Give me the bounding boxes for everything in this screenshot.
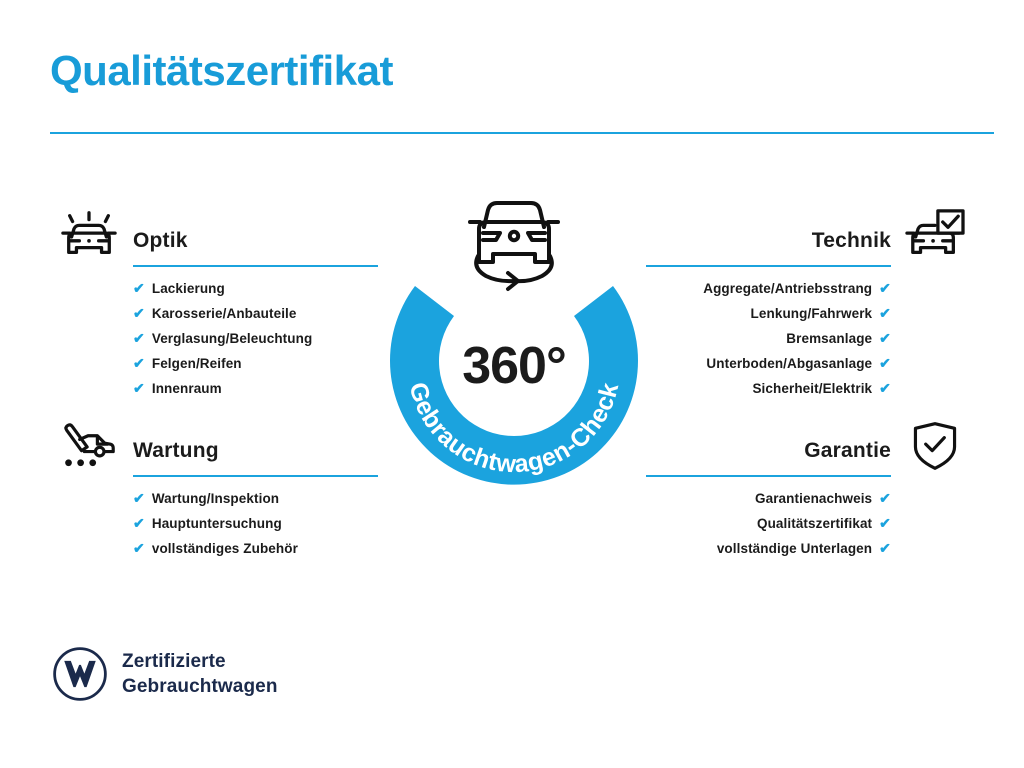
- section-garantie-list: Garantienachweis✔ Qualitätszertifikat✔ v…: [644, 486, 974, 561]
- check-icon: ✔: [879, 486, 891, 510]
- section-technik-divider: [646, 265, 891, 267]
- check-icon: ✔: [879, 301, 891, 325]
- check-icon: ✔: [133, 536, 145, 560]
- section-optik-list: ✔Lackierung ✔Karosserie/Anbauteile ✔Verg…: [50, 276, 380, 401]
- section-optik-divider: [133, 265, 378, 267]
- list-item: Sicherheit/Elektrik✔: [644, 376, 891, 401]
- page-title: Qualitätszertifikat: [50, 48, 393, 94]
- check-icon: ✔: [879, 326, 891, 350]
- check-icon: ✔: [133, 511, 145, 535]
- section-wartung-title: Wartung: [133, 439, 219, 463]
- list-item: Lenkung/Fahrwerk✔: [644, 301, 891, 326]
- check-icon: ✔: [879, 536, 891, 560]
- list-item-label: Qualitätszertifikat: [757, 512, 872, 536]
- section-technik: Technik Aggregate/Antriebsstrang✔ Lenkun…: [644, 205, 974, 401]
- list-item: ✔Verglasung/Beleuchtung: [133, 326, 380, 351]
- check-icon: ✔: [879, 276, 891, 300]
- gebrauchtwagen-check-badge: Gebrauchtwagen-Check 360°: [374, 190, 654, 490]
- vw-brand-block: Zertifizierte Gebrauchtwagen: [52, 646, 278, 702]
- list-item-label: vollständiges Zubehör: [152, 537, 298, 561]
- badge-center-label: 360°: [374, 336, 654, 396]
- check-icon: ✔: [133, 276, 145, 300]
- list-item-label: Felgen/Reifen: [152, 352, 242, 376]
- car-service-dipstick-icon: [50, 415, 128, 477]
- section-optik-title: Optik: [133, 229, 188, 253]
- list-item: ✔Felgen/Reifen: [133, 351, 380, 376]
- check-icon: ✔: [879, 351, 891, 375]
- section-technik-title: Technik: [812, 229, 891, 253]
- list-item: ✔Lackierung: [133, 276, 380, 301]
- section-wartung: Wartung ✔Wartung/Inspektion ✔Hauptunters…: [50, 415, 380, 561]
- list-item: ✔Innenraum: [133, 376, 380, 401]
- list-item-label: Hauptuntersuchung: [152, 512, 282, 536]
- list-item-label: Unterboden/Abgasanlage: [706, 352, 872, 376]
- brand-line-1: Zertifizierte: [122, 649, 278, 674]
- brand-line-2: Gebrauchtwagen: [122, 674, 278, 699]
- check-icon: ✔: [879, 376, 891, 400]
- section-garantie-header: Garantie: [644, 415, 974, 477]
- section-wartung-list: ✔Wartung/Inspektion ✔Hauptuntersuchung ✔…: [50, 486, 380, 561]
- list-item: vollständige Unterlagen✔: [644, 536, 891, 561]
- check-icon: ✔: [879, 511, 891, 535]
- list-item: ✔Karosserie/Anbauteile: [133, 301, 380, 326]
- brand-text: Zertifizierte Gebrauchtwagen: [122, 649, 278, 699]
- check-icon: ✔: [133, 351, 145, 375]
- list-item-label: Karosserie/Anbauteile: [152, 302, 297, 326]
- car-front-rotate-icon: [456, 190, 572, 296]
- check-icon: ✔: [133, 486, 145, 510]
- list-item-label: Aggregate/Antriebsstrang: [703, 277, 872, 301]
- list-item: Unterboden/Abgasanlage✔: [644, 351, 891, 376]
- list-item: Bremsanlage✔: [644, 326, 891, 351]
- list-item: ✔Hauptuntersuchung: [133, 511, 380, 536]
- section-optik: Optik ✔Lackierung ✔Karosserie/Anbauteile…: [50, 205, 380, 401]
- section-wartung-divider: [133, 475, 378, 477]
- list-item: ✔Wartung/Inspektion: [133, 486, 380, 511]
- list-item: Garantienachweis✔: [644, 486, 891, 511]
- car-front-checkbox-icon: [896, 205, 974, 267]
- list-item-label: Sicherheit/Elektrik: [752, 377, 872, 401]
- vw-logo-icon: [52, 646, 108, 702]
- list-item-label: Verglasung/Beleuchtung: [152, 327, 312, 351]
- shield-check-icon: [896, 415, 974, 477]
- list-item-label: Bremsanlage: [786, 327, 872, 351]
- list-item-label: Garantienachweis: [755, 487, 872, 511]
- check-icon: ✔: [133, 301, 145, 325]
- list-item-label: Wartung/Inspektion: [152, 487, 279, 511]
- section-optik-header: Optik: [50, 205, 380, 267]
- title-divider: [50, 132, 994, 134]
- list-item: Qualitätszertifikat✔: [644, 511, 891, 536]
- list-item: ✔vollständiges Zubehör: [133, 536, 380, 561]
- car-front-shine-icon: [50, 205, 128, 267]
- check-icon: ✔: [133, 326, 145, 350]
- section-garantie-title: Garantie: [804, 439, 891, 463]
- section-technik-list: Aggregate/Antriebsstrang✔ Lenkung/Fahrwe…: [644, 276, 974, 401]
- list-item: Aggregate/Antriebsstrang✔: [644, 276, 891, 301]
- section-technik-header: Technik: [644, 205, 974, 267]
- check-icon: ✔: [133, 376, 145, 400]
- list-item-label: Lenkung/Fahrwerk: [751, 302, 873, 326]
- section-wartung-header: Wartung: [50, 415, 380, 477]
- list-item-label: Innenraum: [152, 377, 222, 401]
- section-garantie: Garantie Garantienachweis✔ Qualitätszert…: [644, 415, 974, 561]
- list-item-label: Lackierung: [152, 277, 225, 301]
- list-item-label: vollständige Unterlagen: [717, 537, 872, 561]
- section-garantie-divider: [646, 475, 891, 477]
